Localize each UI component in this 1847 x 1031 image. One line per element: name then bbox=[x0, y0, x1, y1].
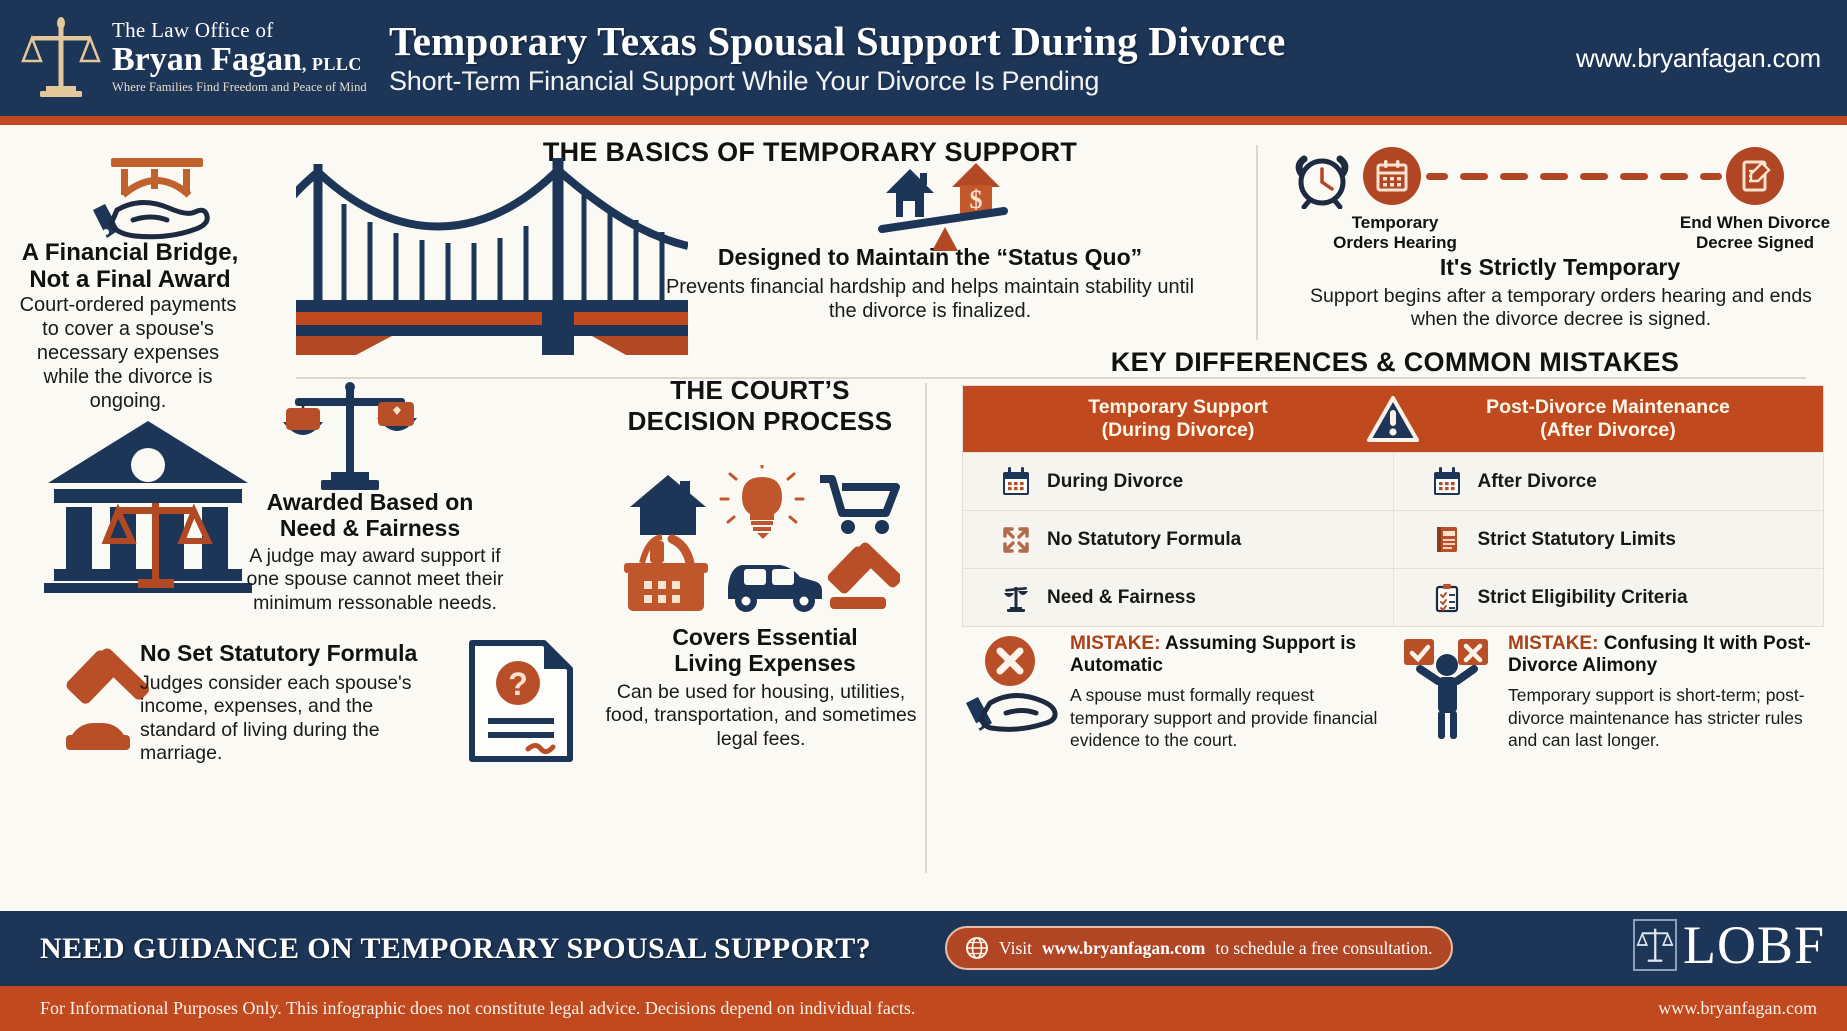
svg-text:$: $ bbox=[970, 185, 983, 214]
footer-cta-bar: NEED GUIDANCE ON TEMPORARY SPOUSAL SUPPO… bbox=[0, 911, 1847, 986]
table-cell-label: During Divorce bbox=[1047, 471, 1183, 493]
table-cell-left: No Statutory Formula bbox=[963, 511, 1393, 568]
rule-book-icon bbox=[1432, 525, 1462, 555]
header-accent-bar bbox=[0, 116, 1847, 125]
card-strictly-temporary-title: It's Strictly Temporary bbox=[1290, 255, 1830, 281]
footer-disclaimer-text: For Informational Purposes Only. This in… bbox=[0, 998, 1658, 1019]
logo-suffix: , PLLC bbox=[302, 54, 362, 74]
timeline-label-decree: End When Divorce Decree Signed bbox=[1640, 213, 1847, 252]
footer-scales-mark bbox=[1633, 919, 1677, 971]
signed-document-icon bbox=[1738, 159, 1772, 193]
gavel-icon bbox=[826, 540, 900, 609]
table-row: No Statutory Formula Strict Statutory Li… bbox=[963, 510, 1823, 568]
logo-tagline: Where Families Find Freedom and Peace of… bbox=[112, 80, 372, 95]
timeline-dash bbox=[1426, 173, 1448, 180]
mistake-1-text: MISTAKE: Assuming Support is Automatic A… bbox=[1070, 633, 1382, 751]
section-heading-court-process: THE COURT’S DECISION PROCESS bbox=[600, 375, 920, 436]
card-status-quo-body: Prevents financial hardship and helps ma… bbox=[660, 275, 1200, 323]
mistake-1-body: A spouse must formally request temporary… bbox=[1070, 684, 1382, 751]
balance-scale-house-money-icon: $ bbox=[870, 155, 1020, 255]
question-document-icon: ? bbox=[466, 637, 576, 765]
footer-consultation-button[interactable]: Visit www.bryanfagan.com to schedule a f… bbox=[945, 926, 1453, 970]
essential-expenses-icons bbox=[624, 465, 900, 615]
timeline-dash bbox=[1620, 173, 1648, 180]
card-covers-expenses-body: Can be used for housing, utilities, food… bbox=[600, 681, 922, 751]
card-need-fairness-body: A judge may award support if one spouse … bbox=[240, 545, 510, 615]
timeline-dash bbox=[1700, 173, 1722, 180]
scales-icon bbox=[1635, 921, 1675, 969]
mistake-2-text: MISTAKE: Confusing It with Post-Divorce … bbox=[1508, 633, 1830, 751]
footer-disclaimer-bar: For Informational Purposes Only. This in… bbox=[0, 986, 1847, 1031]
timeline-label-hearing: Temporary Orders Hearing bbox=[1300, 213, 1490, 252]
mistake-1-title: MISTAKE: Assuming Support is Automatic bbox=[1070, 633, 1382, 677]
page-header: The Law Office of Bryan Fagan, PLLC Wher… bbox=[0, 0, 1847, 116]
page-subtitle: Short-Term Financial Support While Your … bbox=[389, 66, 1517, 97]
warning-triangle-icon bbox=[1367, 395, 1419, 443]
table-cell-label: No Statutory Formula bbox=[1047, 529, 1241, 551]
infographic-page: The Law Office of Bryan Fagan, PLLC Wher… bbox=[0, 0, 1847, 1031]
footer-website-url[interactable]: www.bryanfagan.com bbox=[1658, 998, 1847, 1019]
timeline-dash bbox=[1460, 173, 1488, 180]
card-bridge-body: Court-ordered payments to cover a spouse… bbox=[12, 293, 244, 413]
table-header-col2: Post-Divorce Maintenance (After Divorce) bbox=[1393, 396, 1823, 442]
scales-of-justice-icon bbox=[18, 16, 104, 100]
scales-wallets-icon bbox=[275, 380, 425, 505]
car-icon bbox=[728, 565, 822, 612]
svg-text:?: ? bbox=[508, 666, 528, 702]
timeline-dash bbox=[1660, 173, 1688, 180]
footer-pill-suffix: to schedule a free consultation. bbox=[1215, 938, 1432, 959]
footer-logo-text: LOBF bbox=[1683, 918, 1825, 972]
header-title-group: Temporary Texas Spousal Support During D… bbox=[375, 19, 1517, 97]
calendar-icon bbox=[1432, 467, 1462, 497]
courthouse-icon bbox=[38, 403, 258, 593]
section-heading-key-differences: KEY DIFFERENCES & COMMON MISTAKES bbox=[970, 347, 1820, 378]
card-no-formula-title: No Set Statutory Formula bbox=[140, 641, 440, 667]
logo-firm-name: Bryan Fagan, PLLC bbox=[112, 42, 372, 78]
divider-vertical-top-right bbox=[1256, 145, 1258, 340]
brand-logo: The Law Office of Bryan Fagan, PLLC Wher… bbox=[0, 0, 375, 116]
table-cell-label: Strict Eligibility Criteria bbox=[1478, 587, 1688, 609]
calendar-icon bbox=[1001, 467, 1031, 497]
table-cell-right: Strict Eligibility Criteria bbox=[1393, 569, 1824, 626]
timeline-node-decree bbox=[1726, 147, 1784, 205]
divider-vertical-main bbox=[925, 383, 927, 873]
comparison-table: Temporary Support (During Divorce) Post-… bbox=[962, 385, 1824, 627]
scales-icon bbox=[1001, 583, 1031, 613]
table-cell-left: During Divorce bbox=[963, 453, 1393, 510]
court-heading-line2: DECISION PROCESS bbox=[600, 406, 920, 437]
grocery-basket-icon bbox=[624, 537, 708, 611]
court-heading-line1: THE COURT’S bbox=[600, 375, 920, 406]
suspension-bridge-illustration bbox=[296, 150, 688, 355]
shopping-cart-icon bbox=[820, 479, 896, 534]
footer-cta-text: NEED GUIDANCE ON TEMPORARY SPOUSAL SUPPO… bbox=[0, 932, 871, 966]
expand-arrows-icon bbox=[1001, 525, 1031, 555]
infographic-body: THE BASICS OF TEMPORARY SUPPORT A Financ… bbox=[0, 125, 1847, 911]
table-row: Need & Fairness Strict Eligibility Crite… bbox=[963, 568, 1823, 626]
card-covers-expenses-title: Covers Essential Living Expenses bbox=[620, 625, 910, 677]
footer-logo: LOBF bbox=[1633, 918, 1825, 972]
alarm-clock-icon bbox=[1292, 149, 1352, 209]
table-header-col1: Temporary Support (During Divorce) bbox=[963, 396, 1393, 442]
gavel-icon bbox=[36, 645, 156, 765]
table-cell-right: Strict Statutory Limits bbox=[1393, 511, 1824, 568]
timeline-dash bbox=[1500, 173, 1528, 180]
timeline-node-hearing bbox=[1363, 147, 1421, 205]
timeline-dash bbox=[1540, 173, 1568, 180]
timeline-dash bbox=[1580, 173, 1608, 180]
mistake-2-body: Temporary support is short-term; post-di… bbox=[1508, 684, 1830, 751]
table-cell-right: After Divorce bbox=[1393, 453, 1824, 510]
mistake-1-icon-group bbox=[962, 633, 1058, 751]
table-header-row: Temporary Support (During Divorce) Post-… bbox=[963, 386, 1823, 452]
table-cell-label: Strict Statutory Limits bbox=[1478, 529, 1676, 551]
mistake-2-icon-group bbox=[1400, 633, 1496, 751]
card-strictly-temporary-body: Support begins after a temporary orders … bbox=[1290, 285, 1832, 332]
calendar-icon bbox=[1375, 159, 1409, 193]
card-bridge-title: A Financial Bridge, Not a Final Award bbox=[10, 240, 250, 294]
mistake-2-label: MISTAKE: bbox=[1508, 633, 1598, 654]
page-title: Temporary Texas Spousal Support During D… bbox=[389, 19, 1517, 64]
card-need-fairness-title: Awarded Based on Need & Fairness bbox=[255, 490, 485, 542]
card-status-quo-title: Designed to Maintain the “Status Quo” bbox=[640, 245, 1220, 271]
mistake-card-1: MISTAKE: Assuming Support is Automatic A… bbox=[962, 633, 1382, 751]
header-website-url[interactable]: www.bryanfagan.com bbox=[1517, 43, 1847, 74]
mistake-1-label: MISTAKE: bbox=[1070, 633, 1160, 654]
card-no-formula-body: Judges consider each spouse's income, ex… bbox=[140, 672, 430, 766]
mistake-card-2: MISTAKE: Confusing It with Post-Divorce … bbox=[1400, 633, 1830, 751]
table-cell-label: Need & Fairness bbox=[1047, 587, 1196, 609]
lightbulb-icon bbox=[721, 465, 803, 539]
x-circle-hand-icon bbox=[962, 633, 1058, 743]
logo-line-1: The Law Office of bbox=[112, 18, 372, 43]
footer-pill-prefix: Visit bbox=[999, 938, 1032, 959]
table-row: During Divorce After Divorce bbox=[963, 452, 1823, 510]
table-cell-left: Need & Fairness bbox=[963, 569, 1393, 626]
checklist-icon bbox=[1432, 583, 1462, 613]
person-signs-icon bbox=[1400, 633, 1496, 743]
mistake-2-title: MISTAKE: Confusing It with Post-Divorce … bbox=[1508, 633, 1830, 677]
footer-pill-site: www.bryanfagan.com bbox=[1042, 938, 1205, 959]
globe-icon bbox=[965, 936, 989, 960]
table-cell-label: After Divorce bbox=[1478, 471, 1597, 493]
